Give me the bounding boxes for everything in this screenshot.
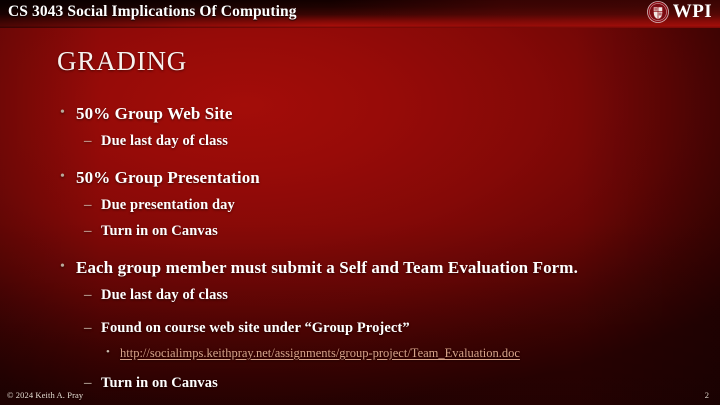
wpi-logo-text: WPI [673, 1, 712, 23]
bullet-marker-icon: – [84, 197, 101, 214]
bullet-marker-icon: • [106, 346, 120, 358]
bullet-item: • Each group member must submit a Self a… [0, 258, 720, 287]
spacer [0, 159, 720, 168]
copyright-notice: © 2024 Keith A. Pray [7, 390, 83, 400]
bullet-item: – Due last day of class [0, 133, 720, 159]
spacer [0, 368, 720, 375]
bullet-text: 50% Group Presentation [76, 168, 720, 188]
bullet-marker-icon: – [84, 223, 101, 240]
bullet-item: – Due last day of class [0, 287, 720, 313]
slide-header-bar: CS 3043 Social Implications Of Computing… [0, 0, 720, 28]
bullet-item: – Due presentation day [0, 197, 720, 223]
bullet-marker-icon: – [84, 320, 101, 337]
spacer [0, 313, 720, 320]
bullet-marker-icon: – [84, 133, 101, 150]
bullet-marker-icon: – [84, 375, 101, 392]
bullet-marker-icon: • [60, 259, 76, 275]
bullet-text: Due presentation day [101, 197, 720, 214]
course-title: CS 3043 Social Implications Of Computing [8, 3, 297, 21]
team-evaluation-link[interactable]: http://socialimps.keithpray.net/assignme… [120, 346, 720, 361]
spacer [0, 249, 720, 258]
wpi-seal-icon [647, 1, 669, 23]
bullet-item: – Turn in on Canvas [0, 375, 720, 401]
bullet-item: • 50% Group Presentation [0, 168, 720, 197]
bullet-marker-icon: – [84, 287, 101, 304]
bullet-text: Turn in on Canvas [101, 223, 720, 240]
presentation-slide: CS 3043 Social Implications Of Computing… [0, 0, 720, 405]
bullet-item: • 50% Group Web Site [0, 104, 720, 133]
bullet-text: Due last day of class [101, 133, 720, 150]
slide-title: GRADING [57, 46, 187, 77]
bullet-text: 50% Group Web Site [76, 104, 720, 124]
page-number: 2 [705, 390, 709, 400]
bullet-text: Each group member must submit a Self and… [76, 258, 720, 278]
bullet-marker-icon: • [60, 105, 76, 121]
bullet-text: Due last day of class [101, 287, 720, 304]
slide-body: • 50% Group Web Site – Due last day of c… [0, 104, 720, 401]
bullet-text: Turn in on Canvas [101, 375, 720, 392]
wpi-logo: WPI [647, 1, 712, 23]
bullet-text: Found on course web site under “Group Pr… [101, 320, 720, 337]
bullet-item: – Turn in on Canvas [0, 223, 720, 249]
bullet-item: – Found on course web site under “Group … [0, 320, 720, 346]
bullet-marker-icon: • [60, 169, 76, 185]
bullet-item-link: • http://socialimps.keithpray.net/assign… [0, 346, 720, 368]
